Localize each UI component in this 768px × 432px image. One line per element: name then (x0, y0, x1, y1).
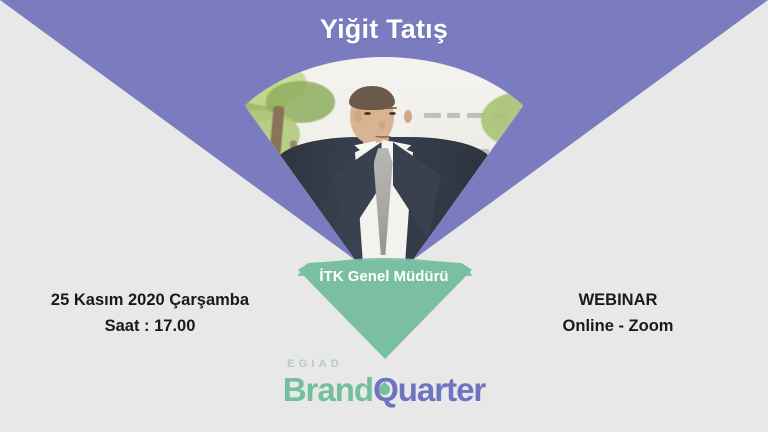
brandquarter-logo: EGIAD BrandQuarter (0, 358, 768, 409)
eye-left (364, 112, 371, 116)
event-datetime-block: 25 Kasım 2020 Çarşamba Saat : 17.00 (14, 288, 286, 339)
mouth (375, 134, 391, 138)
ear-right (404, 110, 412, 123)
logo-q-letter: Q (373, 371, 398, 409)
speaker-name: Yiğit Tatış (0, 14, 768, 45)
eyebrow-right (386, 107, 397, 110)
event-format: WEBINAR (482, 288, 754, 314)
eyebrow-left (360, 107, 371, 110)
event-format-block: WEBINAR Online - Zoom (482, 288, 754, 339)
speaker-title: İTK Genel Müdürü (0, 268, 768, 285)
logo-wordmark: BrandQuarter (283, 371, 486, 409)
event-time: Saat : 17.00 (14, 314, 286, 340)
logo-brand-text: Brand (283, 371, 373, 408)
logo-egiad-text: EGIAD (0, 358, 768, 370)
event-date: 25 Kasım 2020 Çarşamba (14, 288, 286, 314)
webinar-announcement-card: Yiğit Tatış İTK Genel Müdürü 25 Kasım 20… (0, 0, 768, 432)
event-platform: Online - Zoom (482, 314, 754, 340)
ear-left (354, 110, 362, 123)
logo-quarter-text: uarter (398, 371, 486, 408)
eye-right (389, 112, 396, 116)
